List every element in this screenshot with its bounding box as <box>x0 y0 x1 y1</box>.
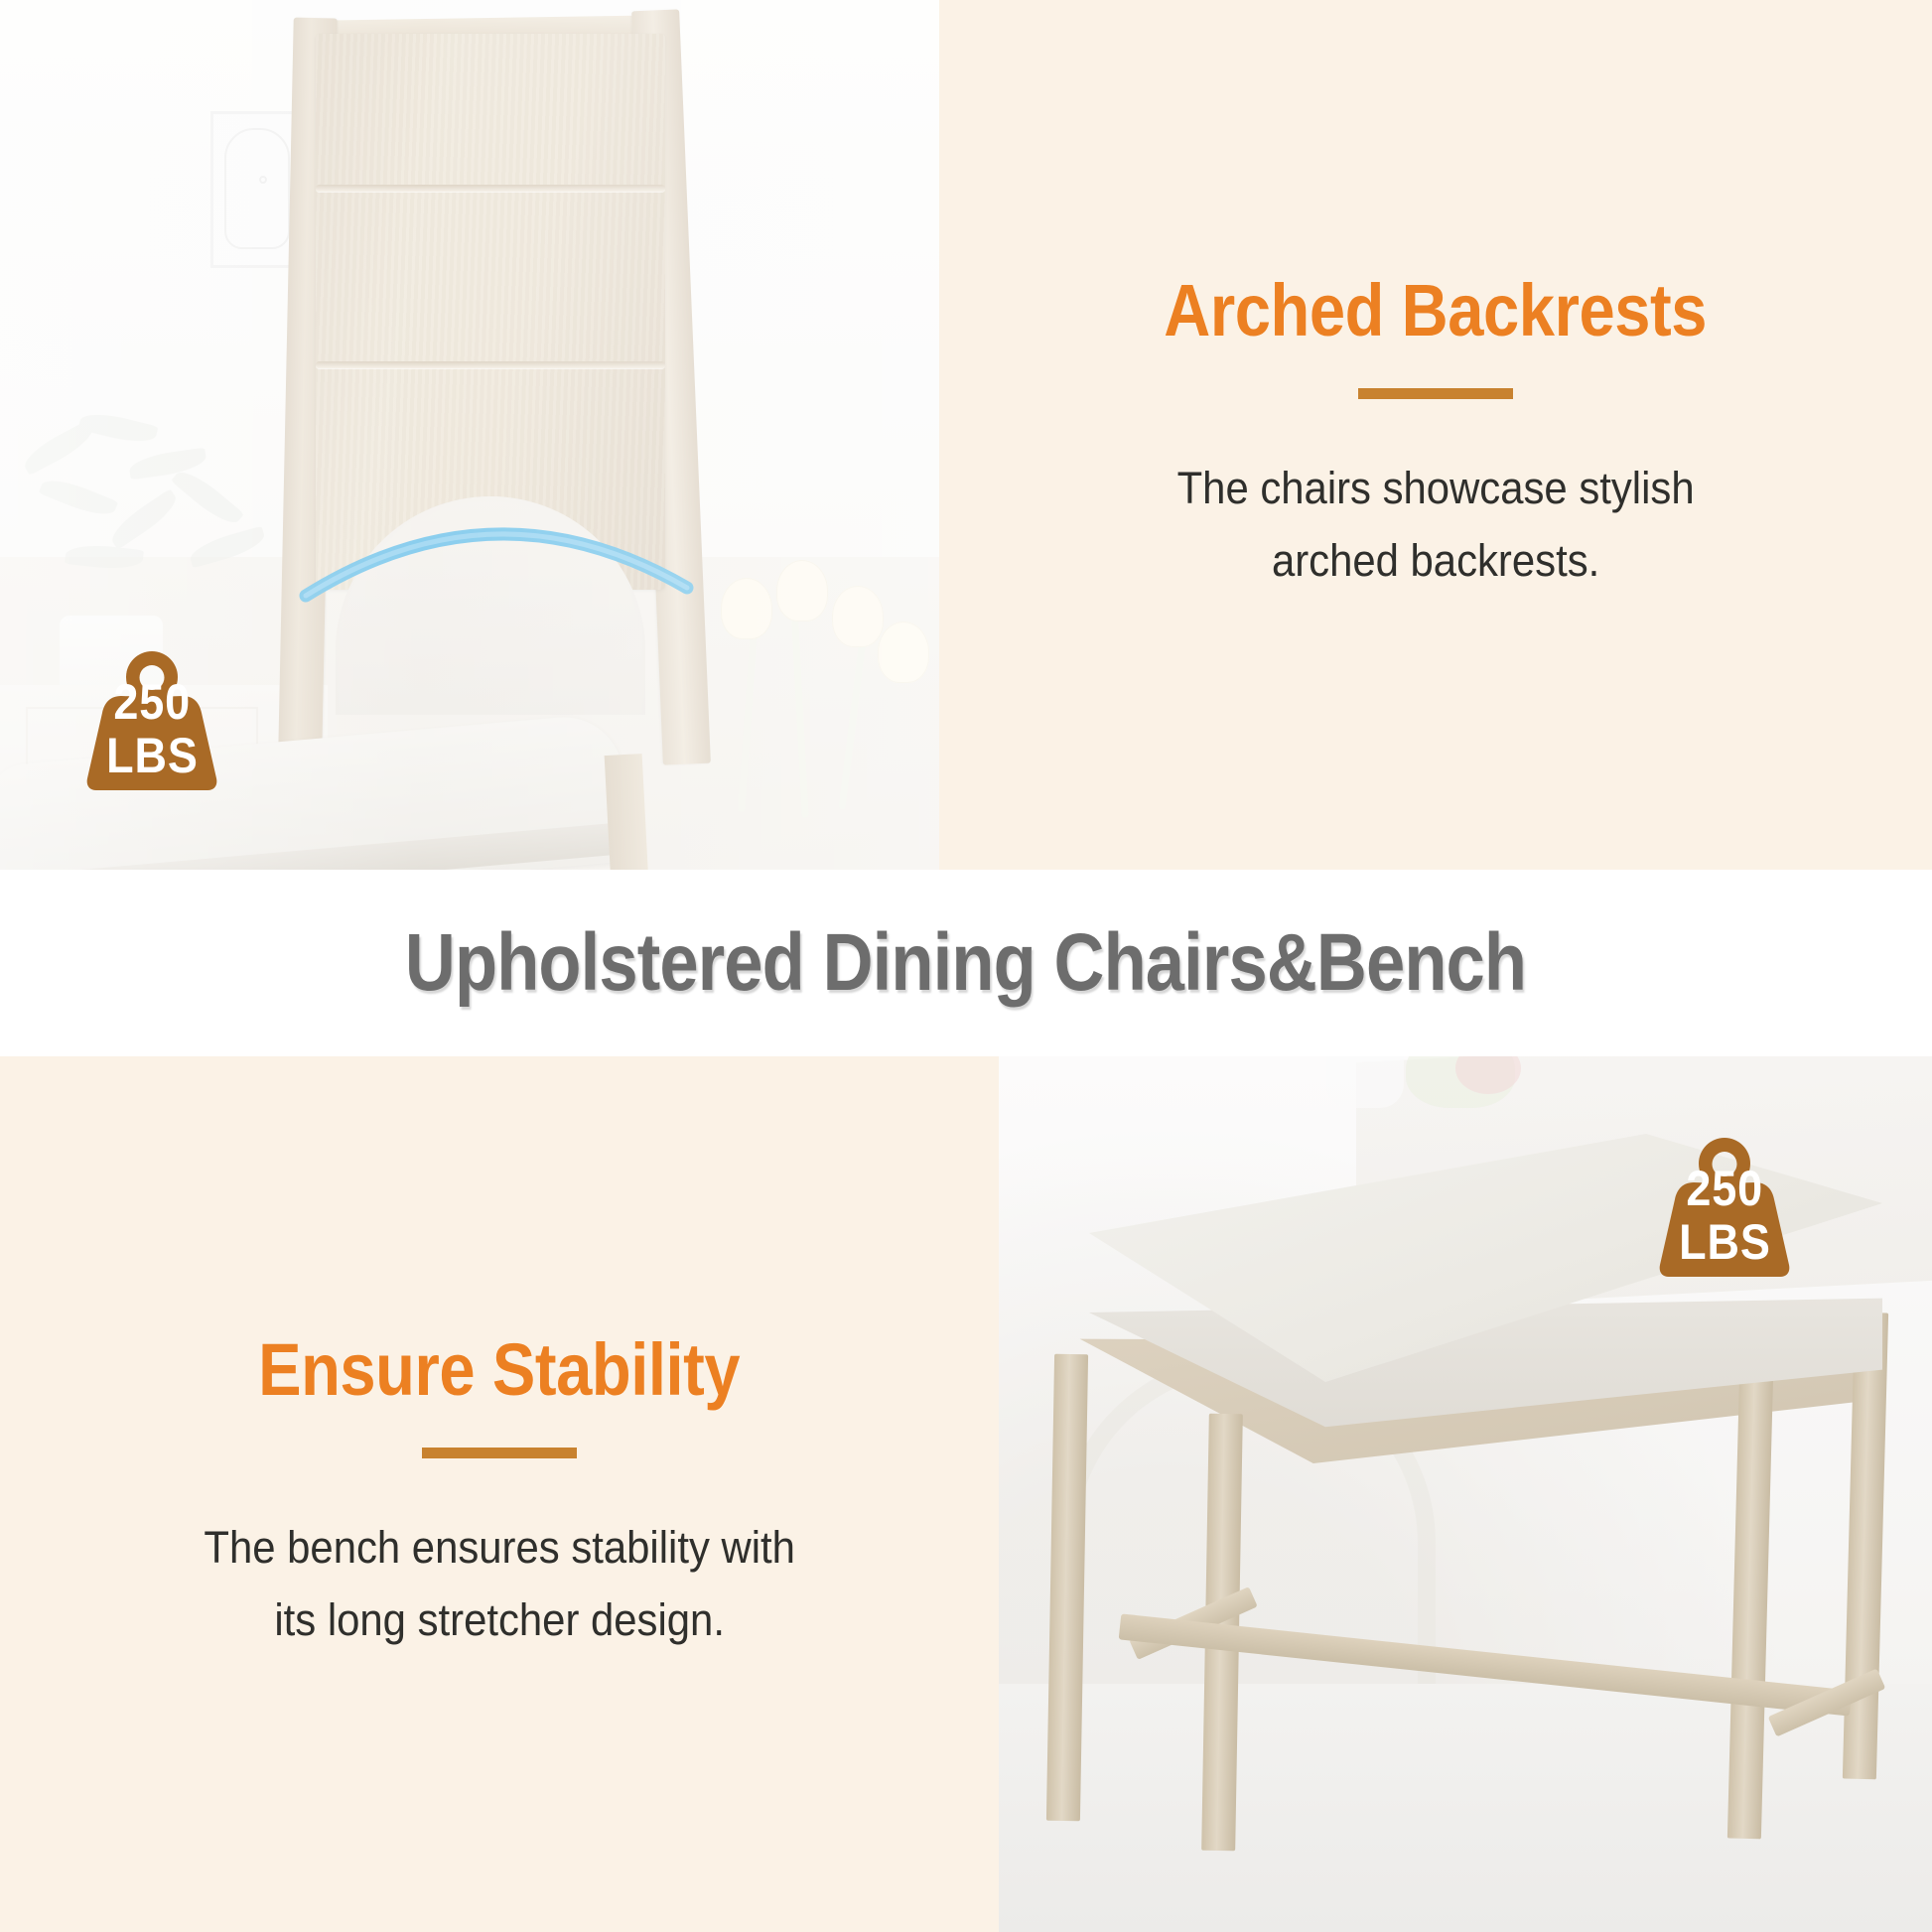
headline-divider <box>1358 388 1513 399</box>
weight-icon <box>1650 1130 1799 1279</box>
text-panel-arched-backrests: Arched Backrests The chairs showcase sty… <box>939 0 1932 870</box>
weight-icon <box>77 643 226 792</box>
body-line: The bench ensures stability with <box>204 1512 795 1585</box>
infographic-page: 250 LBS Arched Backrests The chairs show… <box>0 0 1932 1932</box>
headline-ensure-stability: Ensure Stability <box>258 1331 740 1409</box>
chair-photo: 250 LBS <box>0 0 939 870</box>
section-ensure-stability: Ensure Stability The bench ensures stabi… <box>0 1056 1932 1932</box>
body-line: its long stretcher design. <box>204 1585 795 1657</box>
center-banner: Upholstered Dining Chairs&Bench <box>0 870 1932 1056</box>
body-text-ensure-stability: The bench ensures stability with its lon… <box>204 1512 795 1657</box>
text-panel-ensure-stability: Ensure Stability The bench ensures stabi… <box>0 1056 999 1932</box>
body-line: arched backrests. <box>1176 525 1694 598</box>
headline-arched-backrests: Arched Backrests <box>1165 272 1708 349</box>
product-title: Upholstered Dining Chairs&Bench <box>405 916 1526 1010</box>
body-text-arched-backrests: The chairs showcase stylish arched backr… <box>1176 453 1694 598</box>
weight-capacity-badge: 250 LBS <box>77 643 226 792</box>
weight-capacity-badge: 250 LBS <box>1650 1130 1799 1279</box>
bench-leg <box>1046 1354 1088 1822</box>
bench-leg <box>1727 1372 1773 1840</box>
body-line: The chairs showcase stylish <box>1176 453 1694 525</box>
section-arched-backrests: 250 LBS Arched Backrests The chairs show… <box>0 0 1932 870</box>
bench-photo: 250 LBS <box>999 1056 1932 1932</box>
headline-divider <box>422 1448 577 1458</box>
